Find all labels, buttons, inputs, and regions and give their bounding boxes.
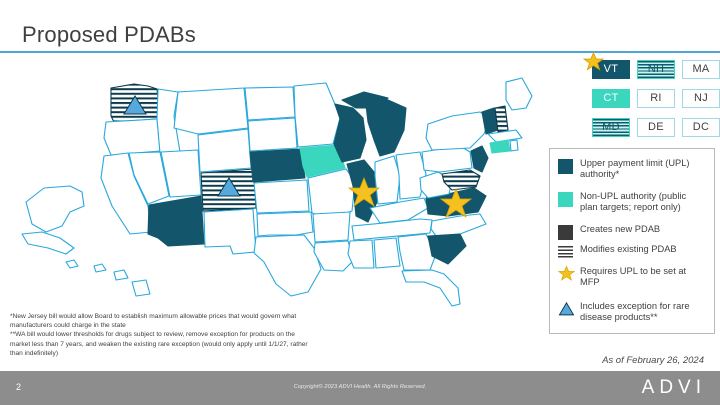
state-AK xyxy=(26,186,84,232)
mfp-star-icon xyxy=(558,265,575,282)
state-AL xyxy=(374,238,400,268)
state-MI-up xyxy=(342,92,388,108)
non-upl-swatch-icon xyxy=(558,192,573,207)
state-NY xyxy=(426,112,490,150)
state-box-nh[interactable]: NH xyxy=(637,60,675,79)
legend-label-creates-pdab: Creates new PDAB xyxy=(580,224,705,235)
state-OR xyxy=(104,119,160,155)
state-box-ct[interactable]: CT xyxy=(592,89,630,108)
state-MS xyxy=(348,240,374,268)
state-MT xyxy=(174,88,248,134)
state-NJ xyxy=(471,146,488,172)
state-AR xyxy=(313,212,350,242)
footnote-2: **WA bill would lower thresholds for dru… xyxy=(10,330,310,358)
state-AZ xyxy=(148,196,204,246)
state-WY xyxy=(198,129,251,172)
as-of-date: As of February 26, 2024 xyxy=(602,355,704,366)
state-NE xyxy=(250,149,305,182)
state-OH xyxy=(396,152,426,199)
state-KS xyxy=(254,180,309,213)
us-map xyxy=(8,56,553,318)
footnote-1: *New Jersey bill would allow Board to es… xyxy=(10,312,310,330)
state-HI2 xyxy=(94,264,106,272)
legend-label-non-upl: Non-UPL authority (public plan targets; … xyxy=(580,191,705,214)
state-HI xyxy=(66,260,78,268)
state-SD xyxy=(248,118,297,151)
state-OK xyxy=(257,212,313,236)
state-AK-isl xyxy=(22,232,74,254)
state-HI3 xyxy=(114,270,128,280)
slide: Proposed PDABs xyxy=(0,0,720,405)
state-NM xyxy=(204,209,256,254)
creates-pdab-swatch-icon xyxy=(558,225,573,240)
legend-item-mfp-star: Requires UPL to be set at MFP xyxy=(558,266,705,289)
legend: Upper payment limit (UPL) authority* Non… xyxy=(549,148,715,334)
state-MO xyxy=(308,169,355,218)
state-box-de[interactable]: DE xyxy=(637,118,675,137)
page-title: Proposed PDABs xyxy=(22,22,196,48)
state-RI xyxy=(510,140,518,151)
legend-item-modifies-pdab: Modifies existing PDAB xyxy=(558,244,705,259)
state-ME xyxy=(506,78,532,110)
state-ND xyxy=(245,87,295,120)
state-MN xyxy=(294,83,340,147)
legend-item-rare-disease: Includes exception for rare disease prod… xyxy=(558,301,705,324)
legend-item-non-upl: Non-UPL authority (public plan targets; … xyxy=(558,191,705,214)
legend-item-creates-pdab: Creates new PDAB xyxy=(558,224,705,240)
legend-label-modifies-pdab: Modifies existing PDAB xyxy=(580,244,705,255)
title-divider xyxy=(0,51,720,53)
footnotes: *New Jersey bill would allow Board to es… xyxy=(10,312,310,358)
legend-label-rare-disease: Includes exception for rare disease prod… xyxy=(580,301,705,324)
state-IN xyxy=(375,156,400,204)
rare-disease-triangle-icon xyxy=(558,300,575,317)
state-box-vt[interactable]: VT xyxy=(592,60,630,79)
state-FL xyxy=(402,270,460,306)
footer-bar: 2 Copyright© 2023 ADVI Health. All Right… xyxy=(0,371,720,405)
state-box-dc[interactable]: DC xyxy=(682,118,720,137)
state-box-ri[interactable]: RI xyxy=(637,89,675,108)
state-TX xyxy=(254,235,321,296)
modifies-pdab-stripes-icon xyxy=(558,246,573,259)
advi-logo: ADVI xyxy=(642,377,706,399)
state-PA xyxy=(422,146,472,172)
state-CT xyxy=(490,140,510,153)
state-box-ma[interactable]: MA xyxy=(682,60,720,79)
state-NC xyxy=(431,214,486,236)
state-WI xyxy=(334,104,366,162)
legend-item-upl: Upper payment limit (UPL) authority* xyxy=(558,158,705,181)
state-box-nj[interactable]: NJ xyxy=(682,89,720,108)
state-box-md[interactable]: MD xyxy=(592,118,630,137)
state-HI4 xyxy=(132,280,150,296)
legend-label-upl: Upper payment limit (UPL) authority* xyxy=(580,158,705,181)
copyright-text: Copyright© 2023 ADVI Health. All Rights … xyxy=(0,384,720,390)
upl-swatch-icon xyxy=(558,159,573,174)
legend-label-mfp-star: Requires UPL to be set at MFP xyxy=(580,266,705,289)
state-abbrev-grid: VT NH MA CT RI NJ MD DE DC xyxy=(592,60,720,144)
